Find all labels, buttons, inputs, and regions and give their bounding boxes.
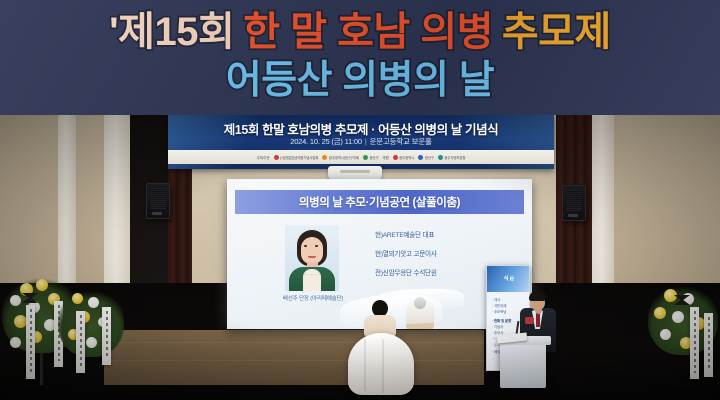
memorial-wreath-left-2 [58,287,124,387]
headline-segment-1: '제15회 [109,6,234,58]
overhead-banner-date: 2024. 10. 25 (금) 11:00 [290,137,362,146]
sponsor-chip: 광주지방보훈청 [438,155,466,160]
screenshot-root: '제15회한 말 호남 의병추모제 어등산 의병의 날 제15회 한말 호남의병… [0,0,720,400]
sponsor-name: (사)한말호남의병기념사업회 [280,155,318,160]
sponsor-logo-icon [438,155,443,160]
slide-header-text: 의병의 날 추모·기념공연 (살풀이춤) [299,194,460,210]
wall-speaker-right [562,185,586,221]
event-photograph: 제15회 한말 호남의병 추모제 · 어등산 의병의 날 기념식 2024. 1… [0,115,720,400]
sponsor-logo-icon [322,155,327,160]
sponsor-logo-icon [393,155,398,160]
memorial-wreath-right [648,283,718,389]
headline-segment-2: 한 말 호남 의병 [243,6,493,58]
overhead-event-banner: 제15회 한말 호남의병 추모제 · 어등산 의병의 날 기념식 2024. 1… [168,115,554,169]
overhead-banner-divider: | [362,137,370,146]
sponsor-chip: 후원 [383,155,389,160]
headline-line-1: '제15회한 말 호남 의병추모제 [0,6,720,58]
slide-header-bar: 의병의 날 추모·기념공연 (살풀이춤) [235,190,524,214]
sponsor-name: 광산구 [425,155,434,160]
overhead-banner-subtitle: 2024. 10. 25 (금) 11:00|운문고등학교 보운홀 [168,136,554,147]
sponsor-chip: (사)한말호남의병기념사업회 [274,155,319,160]
sponsor-chip: 광주광역시광산구지회 [322,155,359,160]
overhead-banner-suffix: 어등산 의병의 날 기념식 [378,123,498,137]
sponsor-chip: 광주광역시 [393,155,415,160]
sponsor-logo-icon [274,155,279,160]
podium [500,340,546,388]
headline-banner: '제15회한 말 호남 의병추모제 어등산 의병의 날 [0,0,720,115]
sponsor-name: 광산구 [370,155,379,160]
sponsor-chip: 광산구 [418,155,434,160]
sponsor-logo-strip: 주최/주관 (사)한말호남의병기념사업회 광주광역시광산구지회 광산구 후원 광… [168,150,554,164]
salpuri-dancer [338,295,444,400]
sponsor-chip: 광산구 [363,155,379,160]
sponsor-name: 광주지방보훈청 [444,155,465,160]
sponsor-host-label: 주최/주관 [257,155,270,160]
slide-bullet: 현)ARETE예술단 대표 [375,229,525,239]
headline-segment-4: 어등산 의병의 날 [226,55,494,107]
dancer-skirt [348,333,414,395]
headline-line-2: 어등산 의병의 날 [0,55,720,107]
overhead-banner-venue: 운문고등학교 보운홀 [370,137,432,146]
sponsor-name: 광주광역시 [399,155,414,160]
overhead-banner-sep: · [371,123,375,137]
overhead-banner-main: 한말 호남의병 추모제 [262,123,368,137]
program-banner-title: 식 순 [487,275,530,282]
slide-bullet: 현)열뫼기앗고 고문이사 [375,248,525,258]
sponsor-logo-icon [363,155,368,160]
wall-speaker-left [146,183,170,219]
sponsor-name: 광주광역시광산구지회 [329,155,359,160]
sponsor-logo-icon [418,155,423,160]
sponsor-name: 후원 [383,155,389,160]
ceiling-projector [328,166,382,180]
overhead-banner-prefix: 제15회 [224,123,259,137]
headline-segment-3: 추모제 [502,6,611,58]
slide-performer-portrait [285,225,339,291]
